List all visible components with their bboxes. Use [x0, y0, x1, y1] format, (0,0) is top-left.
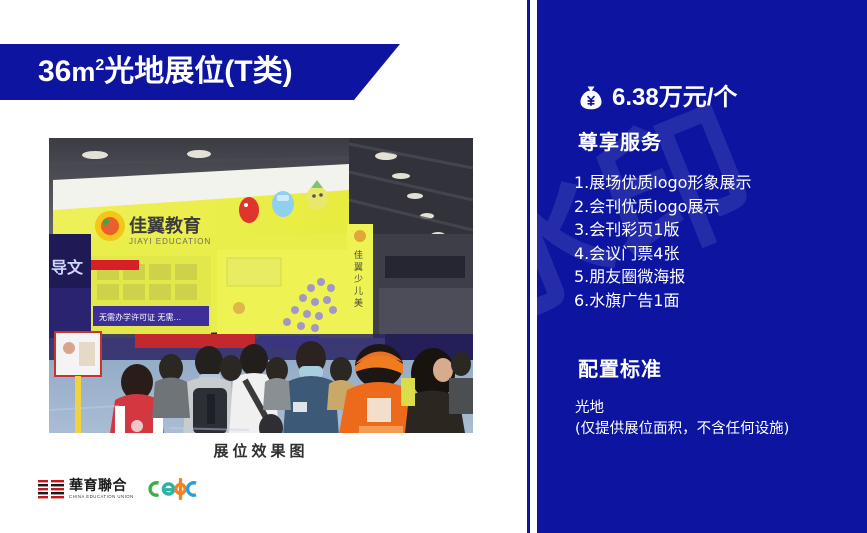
- svg-text:佳翼教育: 佳翼教育: [129, 215, 201, 237]
- services-list: 1.展场优质logo形象展示 2.会刊优质logo展示 3.会刊彩页1版 4.会…: [574, 171, 751, 312]
- hua-yu-lian-he-logo: 華育聯合 CHINA EDUCATION UNION: [38, 479, 132, 499]
- svg-text:JIAYI EDUCATION: JIAYI EDUCATION: [129, 237, 211, 246]
- banner-area-number: 36: [38, 55, 71, 88]
- banner-title: 36m2光地展位(T类): [38, 57, 293, 87]
- service-item: 2.会刊优质logo展示: [574, 195, 751, 219]
- config-body: 光地 (仅提供展位面积，不含任何设施): [575, 398, 789, 440]
- hua-yu-lian-he-en: CHINA EDUCATION UNION: [69, 495, 134, 499]
- title-banner: 36m2光地展位(T类): [0, 44, 400, 100]
- service-item: 4.会议门票4张: [574, 242, 751, 266]
- service-item: 3.会刊彩页1版: [574, 218, 751, 242]
- hua-yu-lian-he-cn: 華育聯合: [69, 479, 132, 493]
- service-item: 1.展场优质logo形象展示: [574, 171, 751, 195]
- svg-text:佳: 佳: [354, 249, 363, 261]
- column-divider: [527, 0, 530, 533]
- left-column: 36m2光地展位(T类): [0, 0, 528, 533]
- banner-title-rest: 光地展位(T类): [104, 55, 292, 88]
- price-value: 6.38万元/个: [612, 86, 737, 110]
- ceic-logo-icon: [146, 478, 202, 500]
- banner-superscript: 2: [95, 57, 104, 74]
- svg-text:美: 美: [354, 297, 363, 309]
- money-bag-icon: [578, 85, 604, 111]
- photo-caption: 展位效果图: [49, 440, 473, 461]
- services-heading: 尊享服务: [578, 133, 662, 153]
- svg-text:少: 少: [354, 274, 363, 285]
- logo-row: 華育聯合 CHINA EDUCATION UNION: [38, 478, 202, 500]
- service-item: 6.水旗广告1面: [574, 289, 751, 313]
- banner-unit: m: [71, 57, 95, 87]
- svg-text:无需办学许可证 无需...: 无需办学许可证 无需...: [99, 312, 181, 322]
- price-row: 6.38万元/个: [578, 85, 737, 111]
- booth-photo: 佳翼教育 JIAYI EDUCATION 导文: [49, 138, 473, 433]
- hua-yu-lian-he-mark-icon: [38, 479, 64, 499]
- config-heading: 配置标准: [578, 360, 662, 380]
- hua-yu-lian-he-text: 華育聯合 CHINA EDUCATION UNION: [69, 479, 132, 499]
- svg-text:儿: 儿: [354, 286, 363, 297]
- service-item: 5.朋友圈微海报: [574, 265, 751, 289]
- svg-text:翼: 翼: [354, 262, 363, 273]
- booth-photo-image: 佳翼教育 JIAYI EDUCATION 导文: [49, 138, 473, 433]
- svg-text:导文: 导文: [51, 258, 84, 277]
